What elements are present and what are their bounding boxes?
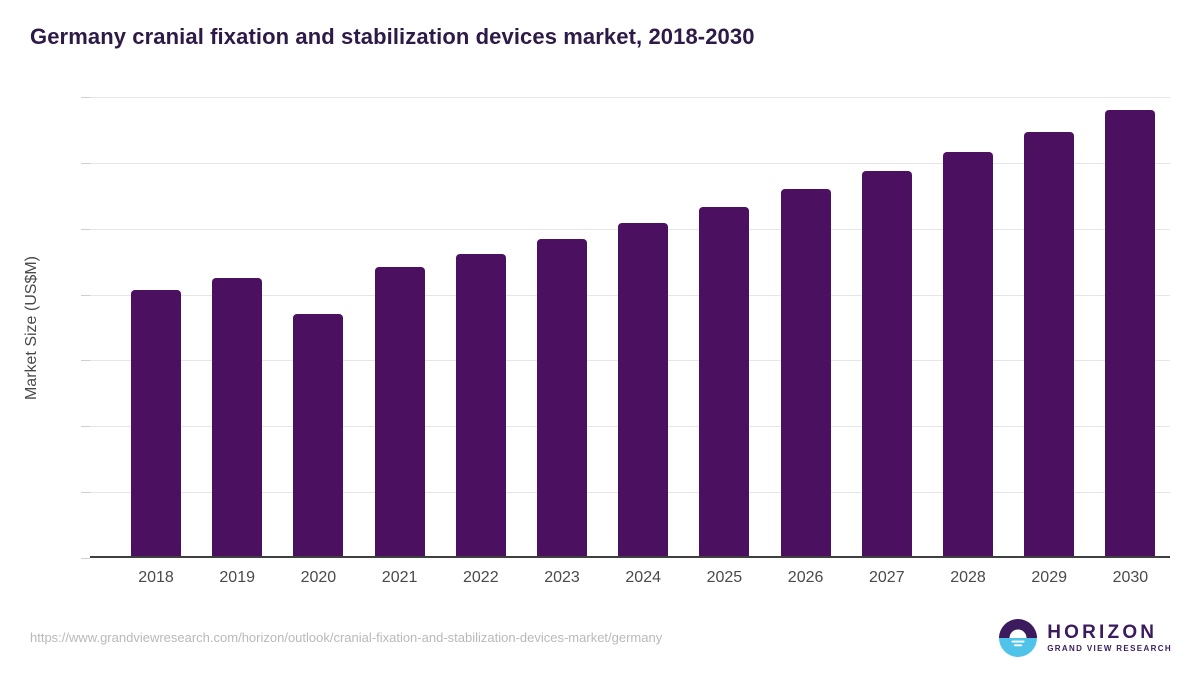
y-tick-mark (81, 492, 90, 493)
x-tick-label: 2022 (436, 569, 526, 587)
x-tick-label: 2026 (761, 569, 851, 587)
brand-logo[interactable]: HORIZON GRAND VIEW RESEARCH (998, 616, 1172, 660)
page-title: Germany cranial fixation and stabilizati… (30, 24, 755, 50)
x-tick-label: 2018 (111, 569, 201, 587)
bar[interactable] (618, 223, 668, 558)
x-tick-label: 2023 (517, 569, 607, 587)
x-tick-label: 2020 (273, 569, 363, 587)
source-url[interactable]: https://www.grandviewresearch.com/horizo… (30, 630, 662, 645)
bar[interactable] (781, 189, 831, 558)
logo-text: HORIZON GRAND VIEW RESEARCH (1047, 623, 1172, 653)
chart-page: Germany cranial fixation and stabilizati… (0, 0, 1200, 675)
logo-wordmark: HORIZON (1047, 623, 1172, 642)
bar[interactable] (375, 267, 425, 558)
y-tick-mark (81, 558, 90, 559)
bar[interactable] (1024, 132, 1074, 558)
bar[interactable] (293, 314, 343, 558)
y-tick-mark (81, 229, 90, 230)
bar[interactable] (943, 152, 993, 558)
bar[interactable] (456, 254, 506, 558)
y-tick-mark (81, 295, 90, 296)
x-tick-label: 2021 (355, 569, 445, 587)
x-tick-label: 2019 (192, 569, 282, 587)
x-axis-line (90, 556, 1170, 558)
y-tick-mark (81, 163, 90, 164)
plot-area: Market Size (US$M) 020406080100120140 20… (90, 97, 1170, 558)
gridline (90, 163, 1170, 164)
x-tick-label: 2030 (1085, 569, 1175, 587)
x-tick-label: 2024 (598, 569, 688, 587)
bar[interactable] (537, 239, 587, 558)
y-tick-mark (81, 360, 90, 361)
bar[interactable] (699, 207, 749, 558)
bar[interactable] (212, 278, 262, 558)
x-tick-label: 2028 (923, 569, 1013, 587)
y-axis-title: Market Size (US$M) (23, 255, 41, 399)
logo-tagline: GRAND VIEW RESEARCH (1047, 645, 1172, 653)
bar[interactable] (131, 290, 181, 558)
y-tick-mark (81, 97, 90, 98)
bar[interactable] (862, 171, 912, 558)
x-tick-label: 2029 (1004, 569, 1094, 587)
bar[interactable] (1105, 110, 1155, 558)
gridline (90, 97, 1170, 98)
horizon-sun-logo-icon (998, 618, 1038, 658)
y-tick-mark (81, 426, 90, 427)
x-tick-label: 2027 (842, 569, 932, 587)
x-tick-label: 2025 (679, 569, 769, 587)
